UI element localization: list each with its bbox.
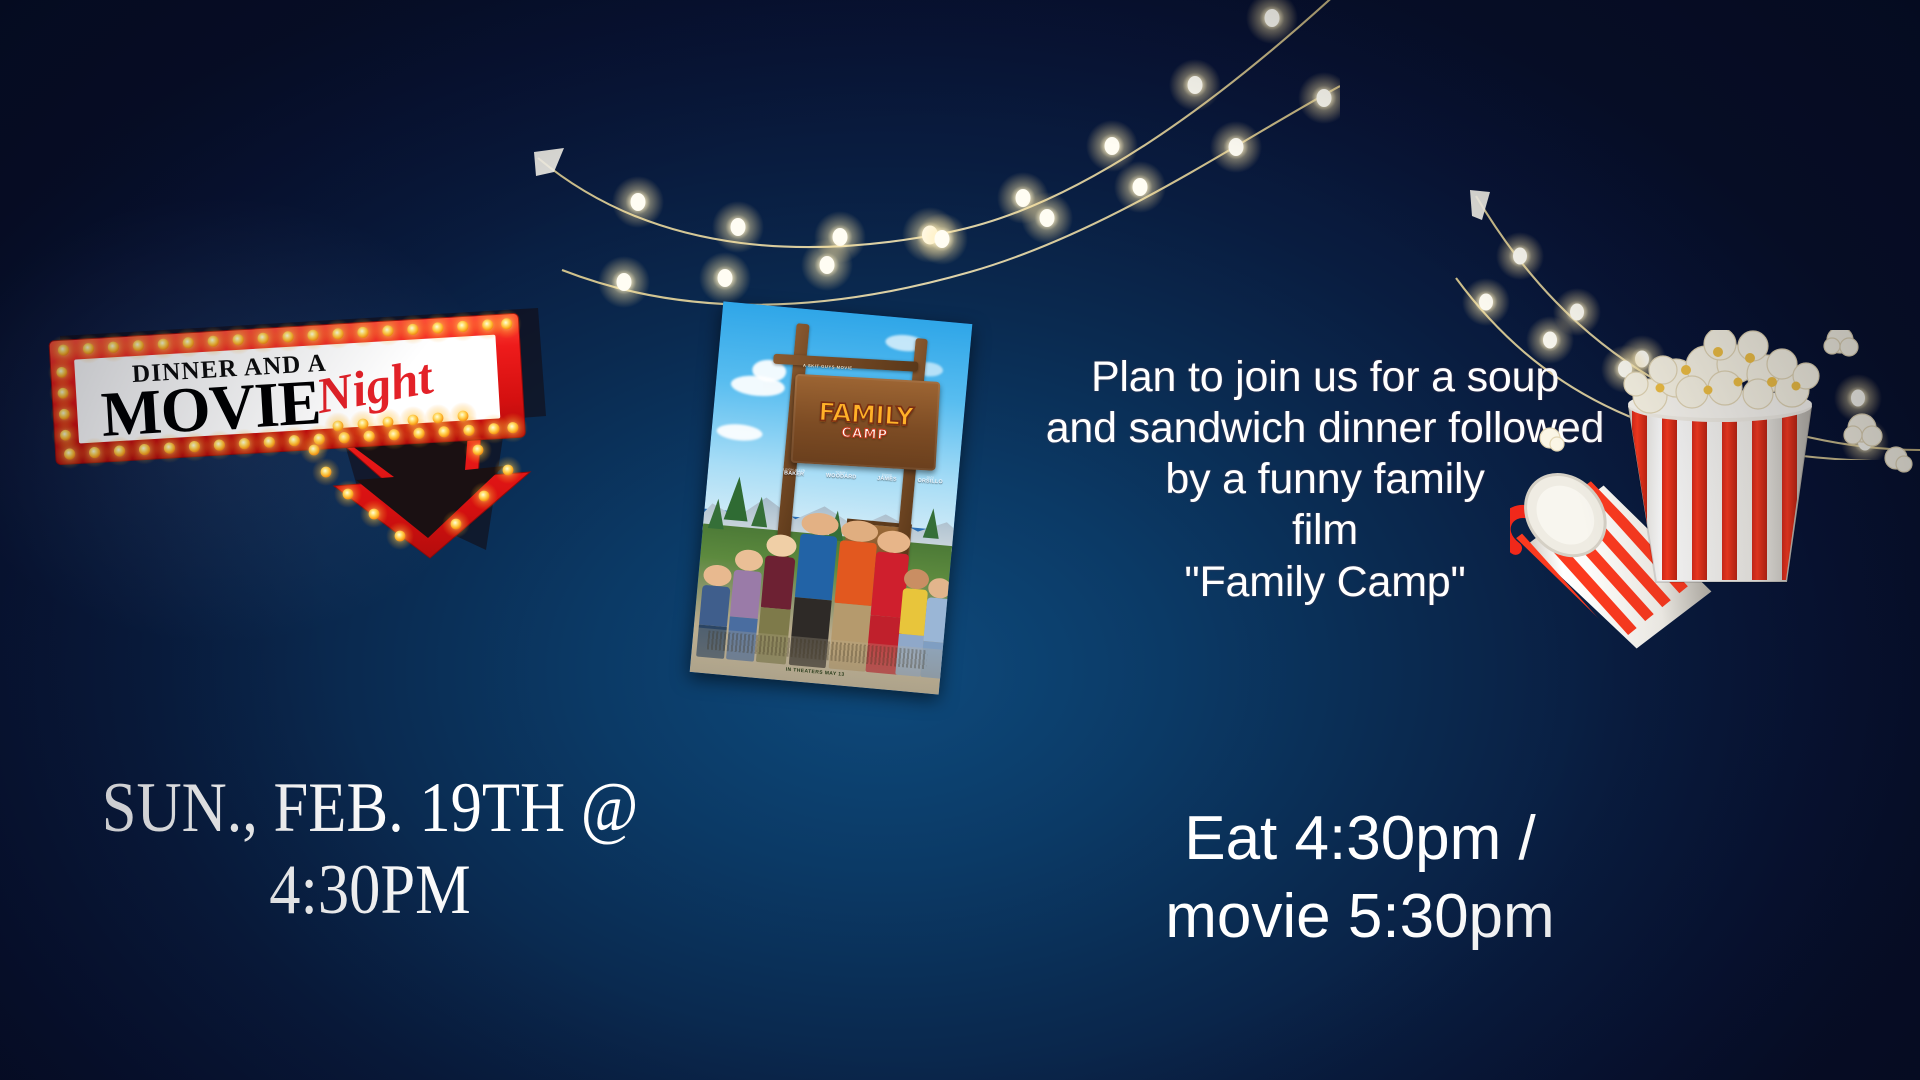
poster-cast-member: GIGI ORSILLO xyxy=(917,476,943,486)
poster-cast-member: TOMMY WOODARD xyxy=(826,471,857,482)
popcorn-kernels xyxy=(1624,330,1819,413)
event-date-line-2: 4:30PM xyxy=(80,850,661,932)
event-times: Eat 4:30pm / movie 5:30pm xyxy=(1010,800,1710,956)
event-times-line-1: Eat 4:30pm / xyxy=(1010,800,1710,878)
poster-title-board: FAMILY CAMP xyxy=(791,374,941,471)
event-date: SUN., FEB. 19TH @ 4:30PM xyxy=(80,768,661,931)
poster-cast-member: EDDIE JAMES xyxy=(877,474,897,484)
poster-title-line1: FAMILY xyxy=(818,401,914,429)
flyer-canvas: DINNER AND A MOVIE Night A SKIT GU xyxy=(0,0,1920,1080)
popcorn-bucket-icon xyxy=(1628,390,1812,590)
poster-cast-member: LEIGH-ALLYN BAKER xyxy=(783,468,806,478)
event-date-line-1: SUN., FEB. 19TH @ xyxy=(80,768,661,850)
popcorn-and-soda-graphic xyxy=(1510,330,1920,660)
marquee-line2: MOVIE xyxy=(99,366,322,450)
movie-poster: A SKIT GUYS MOVIE FAMILY CAMP LEIGH-ALLY… xyxy=(690,301,973,694)
marquee-sign: DINNER AND A MOVIE Night xyxy=(38,300,648,590)
poster-title-line2: CAMP xyxy=(841,426,889,444)
string-lights-icon xyxy=(520,0,1340,320)
event-times-line-2: movie 5:30pm xyxy=(1010,878,1710,956)
